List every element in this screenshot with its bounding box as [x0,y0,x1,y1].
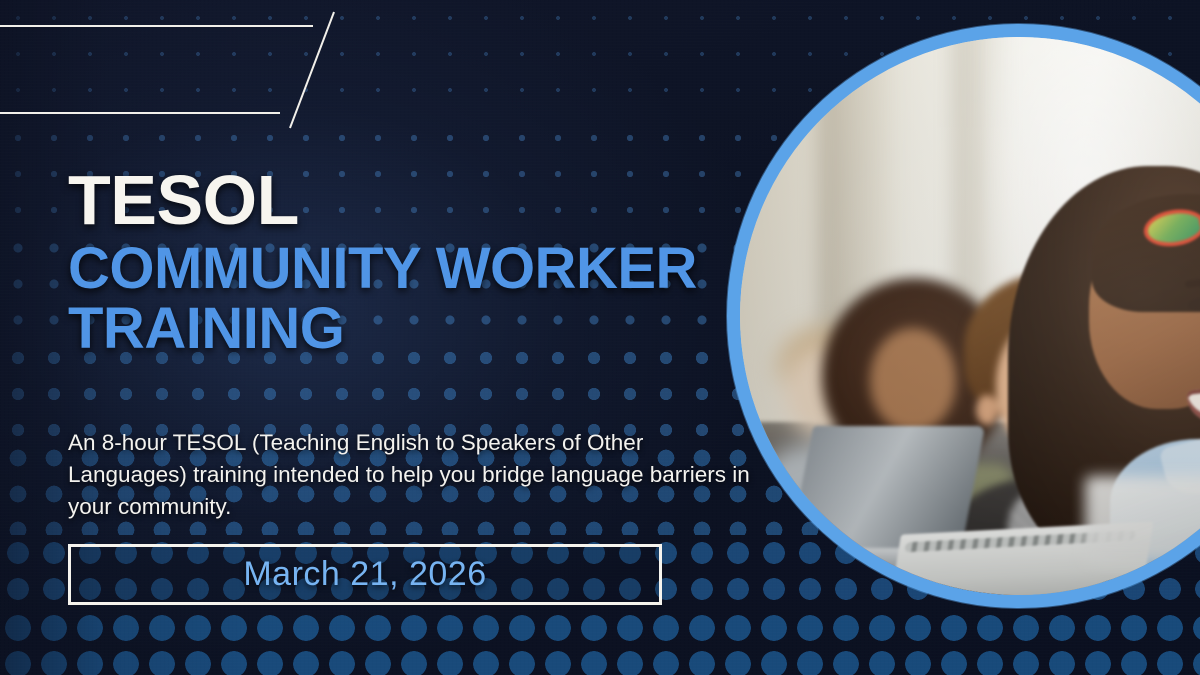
photo-scene [740,37,1200,595]
event-date-badge: March 21, 2026 [68,544,662,605]
sunglass-lens-left [1142,205,1200,250]
headline-block: TESOL COMMUNITY WORKER TRAINING [68,166,748,358]
ear [976,395,998,425]
event-banner: TESOL COMMUNITY WORKER TRAINING An 8-hou… [0,0,1200,675]
headline-line-2: COMMUNITY WORKER [68,241,748,298]
content-column: TESOL COMMUNITY WORKER TRAINING An 8-hou… [68,0,748,675]
headline-line-1: TESOL [68,166,748,235]
headline-line-3: TRAINING [68,301,748,358]
classroom-photo [740,37,1200,595]
photo-circle-ring [727,24,1200,608]
head [870,328,956,432]
foreground-blur-object [1085,476,1200,562]
event-description: An 8-hour TESOL (Teaching English to Spe… [68,427,758,523]
event-date-text: March 21, 2026 [243,555,486,594]
